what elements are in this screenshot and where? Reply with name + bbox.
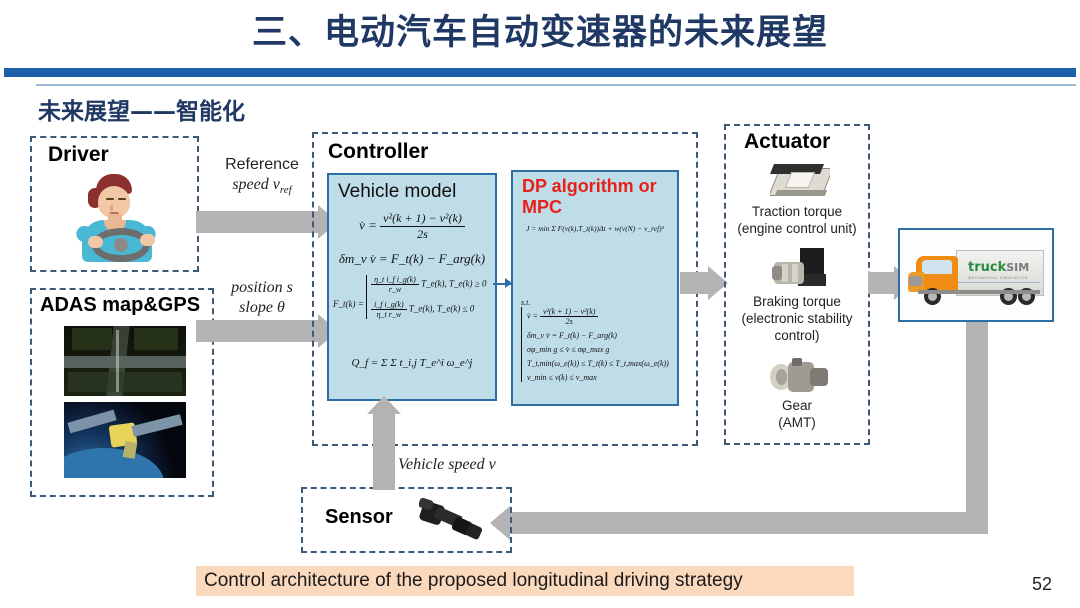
actuator-title: Actuator [744,130,830,154]
arrow-vehicle-speed-head [367,396,401,414]
dp-st3: σφ_min g ≤ v̇ ≤ σφ_max g [527,345,669,354]
adas-title: ADAS map&GPS [40,294,200,317]
gps-satellite-in-orbit-photo [64,402,186,478]
label-vehicle-speed: Vehicle speed v [398,455,578,475]
vehicle-model-eq4: Q_f = Σ Σ t_i,j T_e^i ω_e^j [335,357,489,369]
label-slope-line: slope θ [239,299,285,316]
trucksim-logo-sub: SIM [1006,261,1029,274]
vehicle-model-eq3-case2-num: i_f i_g(k) [371,300,407,309]
actuator-item-1-label: Traction torque (engine control unit) [724,204,870,238]
sensor-group-box: Sensor [301,487,512,553]
label-reference-speed-line1: Reference [225,156,299,173]
header-rule-thick [4,68,1076,77]
gearbox-photo [768,356,830,398]
header-rule-thin [36,84,1076,86]
speed-sensor-photo [419,497,493,543]
arrow-vehicle-speed-body [373,414,395,490]
label-reference-speed-sub: ref [280,184,292,196]
actuator-item-3-line2: (AMT) [778,415,816,430]
vehicle-model-eq3-case1-den: r_w [371,284,419,294]
driver-title: Driver [48,143,109,167]
trucksim-orange-truck-photo: truckSIM MECHANICAL SIMULATION [900,230,1052,320]
actuator-item-3-label: Gear (AMT) [726,398,868,432]
plant-vehicle-box: truckSIM MECHANICAL SIMULATION [898,228,1054,322]
actuator-item-3-line1: Gear [782,398,812,413]
vehicle-model-title: Vehicle model [338,181,456,203]
arrow-position-slope-body [196,320,318,342]
arrow-actuator-to-plant-body [868,272,894,294]
arrow-reference-speed-body [196,211,318,233]
actuator-group-box: Actuator Traction torque (engine control… [724,124,870,445]
trucksim-logo-tagline: MECHANICAL SIMULATION [968,275,1028,280]
page-number: 52 [1032,574,1052,595]
label-vehicle-speed-text: Vehicle speed v [398,456,496,473]
feedback-arrow-horizontal [510,512,988,534]
feedback-arrow-vertical [966,322,988,512]
label-reference-speed: Reference speed vref [202,155,322,198]
trucksim-logo-main: truck [968,260,1006,275]
adas-group-box: ADAS map&GPS [30,288,214,497]
dp-st5: v_min ≤ v(k) ≤ v_max [527,373,669,382]
vehicle-model-eq1: v̇ = v²(k + 1) − v²(k) 2s [335,211,489,242]
actuator-item-1-line2: (engine control unit) [737,221,856,236]
section-subtitle: 未来展望——智能化 [38,92,245,126]
vehicle-model-eq3: F_t(k) = η_t i_f i_g(k) r_w T_e(k), T_e(… [333,275,491,319]
actuator-item-2-line3: control) [774,328,819,343]
dp-st1-num: v²(k + 1) − v²(k) [540,307,598,316]
vehicle-model-eq3-case2-tail: T_e(k), T_e(k) ≤ 0 [409,304,474,314]
vehicle-model-eq1-den: 2s [380,226,465,242]
dp-st1-lhs: v̇ = [527,311,538,320]
engine-control-unit-photo [770,160,830,202]
page-title: 三、电动汽车自动变速器的未来展望 [0,4,1080,55]
actuator-item-2-line1: Braking torque [753,294,841,309]
vehicle-model-eq3-lhs: F_t(k) = [333,285,364,309]
dp-st4: T_t,min(ω_e(k)) ≤ T_t(k) ≤ T_t,max(ω_e(k… [527,359,669,368]
vehicle-model-eq2: δm_v v̇ = F_t(k) − F_arg(k) [335,251,489,267]
dp-algorithm-title: DP algorithm or MPC [522,176,657,217]
vehicle-model-eq3-case1-num: η_t i_f i_g(k) [371,275,419,284]
actuator-item-2-line2: (electronic stability [741,311,852,326]
label-reference-speed-line2: speed v [232,176,280,193]
actuator-item-1-line1: Traction torque [752,204,842,219]
dp-algorithm-panel: DP algorithm or MPC J = min Σ F(v(k),T_t… [511,170,679,406]
dp-objective-function: J = min Σ F(v(k),T_t(k))Δt + w(v(N) − v_… [515,224,675,233]
driver-illustration [66,172,166,262]
night-highway-map-photo [64,326,186,396]
dp-st-label: s.t. [521,252,530,307]
sensor-title: Sensor [325,506,393,529]
arrow-controller-to-actuator-body [680,272,708,294]
dp-constraints: s.t. v̇ = v²(k + 1) − v²(k) 2s δm_v v̇ =… [521,252,673,382]
actuator-item-2-label: Braking torque (electronic stability con… [722,294,872,345]
controller-title: Controller [328,140,428,164]
vehicle-model-eq1-lhs: v̇ = [359,217,377,232]
vehicle-model-eq3-case1-tail: T_e(k), T_e(k) ≥ 0 [421,279,486,289]
vehicle-model-panel: Vehicle model v̇ = v²(k + 1) − v²(k) 2s … [327,173,497,401]
dp-title-line1: DP algorithm or [522,176,657,196]
dp-st2: δm_v v̇ = F_t(k) − F_arg(k) [527,331,669,340]
figure-caption: Control architecture of the proposed lon… [196,566,854,596]
brake-esc-module-photo [772,248,828,292]
label-position-line: position s [231,279,293,296]
vehicle-model-eq3-case2-den: η_t r_w [371,309,407,319]
driver-group-box: Driver [30,136,199,272]
label-position-slope: position s slope θ [202,278,322,318]
dp-st1-den: 2s [540,316,598,326]
vehicle-model-eq1-num: v²(k + 1) − v²(k) [380,211,465,226]
dp-title-line2: MPC [522,197,562,217]
